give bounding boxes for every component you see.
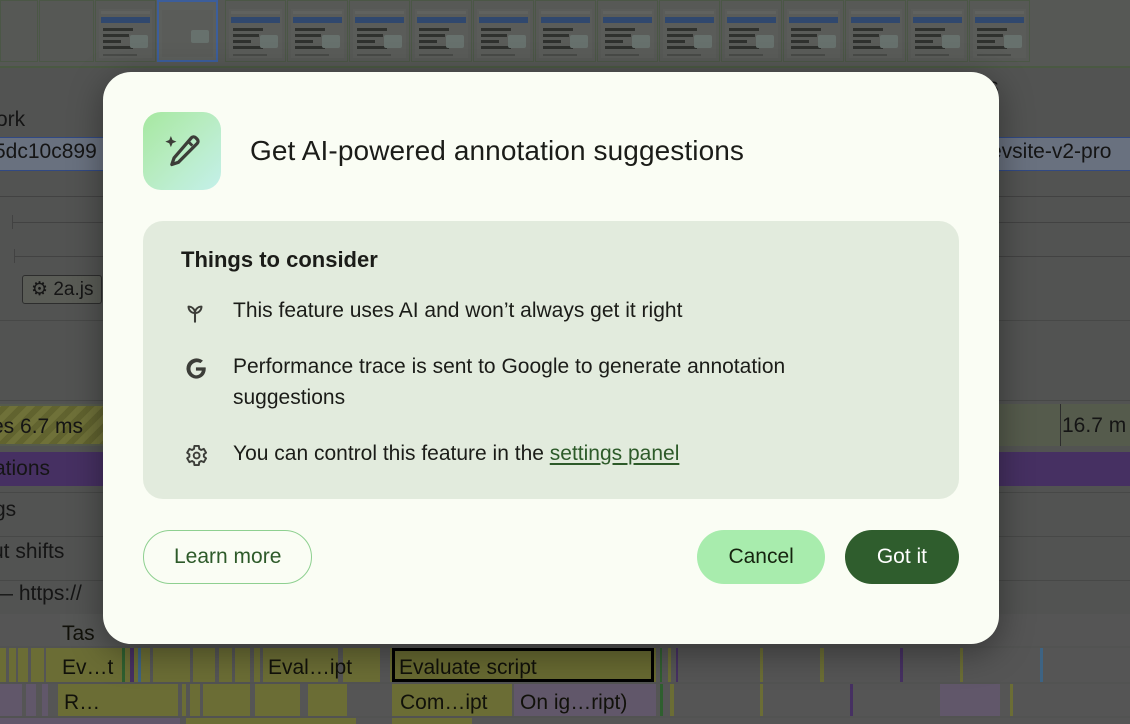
consider-item-text: Performance trace is sent to Google to g…	[233, 351, 873, 413]
consider-item-text: This feature uses AI and won’t always ge…	[233, 295, 682, 326]
sprout-icon	[181, 298, 209, 326]
consider-item-ai-accuracy: This feature uses AI and won’t always ge…	[181, 295, 929, 326]
settings-panel-link[interactable]: settings panel	[550, 442, 680, 465]
consider-item-text: You can control this feature in the sett…	[233, 438, 679, 469]
dialog-footer: Learn more Cancel Got it	[103, 530, 999, 584]
card-title: Things to consider	[181, 247, 929, 273]
consider-item-trace-sent-to-google: Performance trace is sent to Google to g…	[181, 351, 929, 413]
cancel-button[interactable]: Cancel	[697, 530, 824, 584]
consider-item-settings-control: You can control this feature in the sett…	[181, 438, 929, 469]
learn-more-button[interactable]: Learn more	[143, 530, 312, 584]
things-to-consider-card: Things to consider This feature uses AI …	[143, 221, 959, 499]
dialog-title: Get AI-powered annotation suggestions	[250, 135, 744, 167]
consider-item-text-prefix: You can control this feature in the	[233, 442, 550, 465]
got-it-button[interactable]: Got it	[845, 530, 959, 584]
ai-annotation-suggestions-dialog: Get AI-powered annotation suggestions Th…	[103, 72, 999, 644]
magic-wand-pencil-icon	[143, 112, 221, 190]
google-g-icon	[181, 354, 209, 382]
dialog-header: Get AI-powered annotation suggestions	[103, 72, 999, 190]
gear-icon	[181, 441, 209, 469]
